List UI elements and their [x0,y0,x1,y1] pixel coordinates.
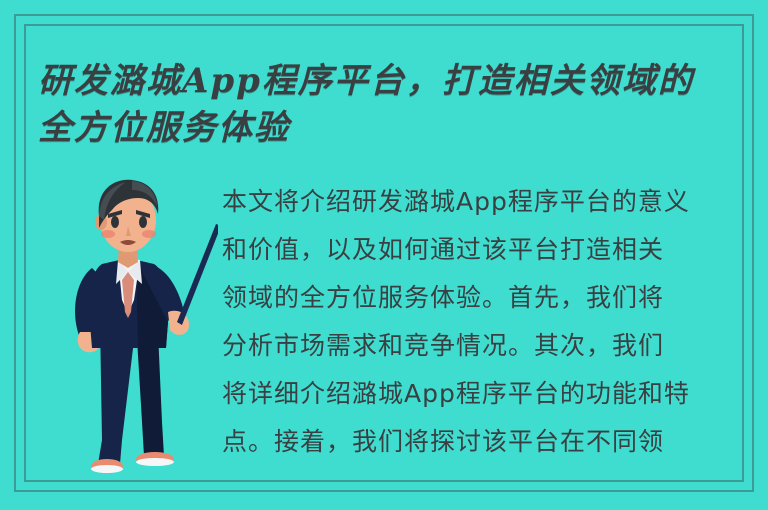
businessman-with-pointer-illustration [58,172,218,482]
body-line-5: 将详细介绍潞城App程序平台的功能和特 [222,370,742,418]
body-line-1: 本文将介绍研发潞城App程序平台的意义 [222,178,742,226]
body-line-2: 和价值，以及如何通过该平台打造相关 [222,226,742,274]
poster-title: 研发潞城App程序平台，打造相关领域的 全方位服务体验 [38,58,738,152]
poster-body-text: 本文将介绍研发潞城App程序平台的意义 和价值，以及如何通过该平台打造相关 领域… [222,178,742,466]
body-line-6: 点。接着，我们将探讨该平台在不同领 [222,418,742,466]
poster-canvas: 研发潞城App程序平台，打造相关领域的 全方位服务体验 本文将介绍研发潞城App… [0,0,768,510]
title-line-2: 全方位服务体验 [38,105,738,152]
title-line-1: 研发潞城App程序平台，打造相关领域的 [38,58,738,105]
body-line-3: 领域的全方位服务体验。首先，我们将 [222,274,742,322]
body-line-4: 分析市场需求和竞争情况。其次，我们 [222,322,742,370]
